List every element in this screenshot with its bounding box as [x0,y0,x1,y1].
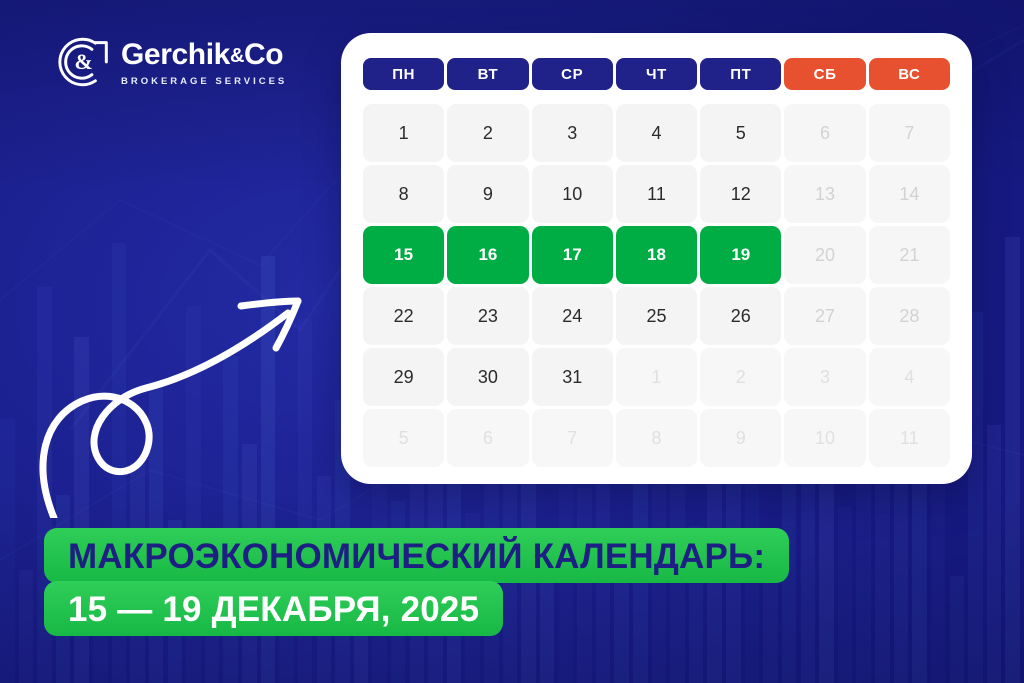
calendar-day-cell[interactable]: 13 [784,165,865,223]
calendar-day-cell[interactable]: 7 [532,409,613,467]
calendar-day-cell[interactable]: 8 [363,165,444,223]
calendar-weekday-header-3: ЧТ [616,58,697,90]
calendar-day-cell[interactable]: 11 [869,409,950,467]
brand-name: Gerchik&Co [121,40,287,70]
brand-logo: & Gerchik&Co BROKERAGE SERVICES [56,34,287,90]
calendar-day-cell[interactable]: 6 [447,409,528,467]
calendar-day-cell[interactable]: 10 [532,165,613,223]
calendar-day-cell[interactable]: 9 [447,165,528,223]
calendar-day-cell[interactable]: 22 [363,287,444,345]
calendar-weekday-header-0: ПН [363,58,444,90]
calendar-day-cell[interactable]: 23 [447,287,528,345]
calendar-day-cell[interactable]: 24 [532,287,613,345]
calendar-day-cell[interactable]: 9 [700,409,781,467]
calendar-day-cell[interactable]: 8 [616,409,697,467]
calendar-weekday-header-5: СБ [784,58,865,90]
brand-name-part1: Gerchik [121,38,230,71]
svg-text:&: & [74,50,92,74]
calendar-day-cell[interactable]: 2 [447,104,528,162]
calendar-day-cell[interactable]: 25 [616,287,697,345]
curly-upward-arrow-doodle [36,268,346,518]
brand-name-part2: Co [244,38,283,71]
calendar-day-cell[interactable]: 28 [869,287,950,345]
calendar-day-cell[interactable]: 18 [616,226,697,284]
calendar-day-cell[interactable]: 4 [616,104,697,162]
calendar-grid: ПНВТСРЧТПТСБВС12345678910111213141516171… [363,58,950,467]
calendar-day-cell[interactable]: 19 [700,226,781,284]
calendar-day-cell[interactable]: 5 [363,409,444,467]
calendar-day-cell[interactable]: 14 [869,165,950,223]
calendar-day-cell[interactable]: 6 [784,104,865,162]
banner-line-2: 15 — 19 ДЕКАБРЯ, 2025 [44,581,503,636]
calendar-day-cell[interactable]: 3 [532,104,613,162]
calendar-day-cell[interactable]: 11 [616,165,697,223]
calendar-day-cell[interactable]: 21 [869,226,950,284]
brand-name-amp: & [230,45,244,67]
title-banner: МАКРОЭКОНОМИЧЕСКИЙ КАЛЕНДАРЬ: 15 — 19 ДЕ… [44,528,789,636]
calendar-day-cell[interactable]: 12 [700,165,781,223]
calendar-day-cell[interactable]: 3 [784,348,865,406]
calendar-weekday-header-2: СР [532,58,613,90]
cg-monogram-circle-icon: & [56,34,112,90]
calendar-day-cell[interactable]: 4 [869,348,950,406]
brand-text: Gerchik&Co BROKERAGE SERVICES [121,38,287,87]
calendar-day-cell[interactable]: 10 [784,409,865,467]
calendar-day-cell[interactable]: 17 [532,226,613,284]
calendar-weekday-header-4: ПТ [700,58,781,90]
calendar-day-cell[interactable]: 31 [532,348,613,406]
calendar-weekday-header-6: ВС [869,58,950,90]
calendar-day-cell[interactable]: 27 [784,287,865,345]
calendar-day-cell[interactable]: 29 [363,348,444,406]
calendar-header-spacer [363,93,950,101]
calendar-day-cell[interactable]: 30 [447,348,528,406]
calendar-day-cell[interactable]: 15 [363,226,444,284]
calendar-day-cell[interactable]: 16 [447,226,528,284]
calendar-day-cell[interactable]: 1 [363,104,444,162]
calendar-day-cell[interactable]: 2 [700,348,781,406]
calendar-day-cell[interactable]: 26 [700,287,781,345]
brand-subtitle: BROKERAGE SERVICES [121,76,287,87]
calendar-day-cell[interactable]: 5 [700,104,781,162]
calendar-day-cell[interactable]: 20 [784,226,865,284]
calendar-day-cell[interactable]: 7 [869,104,950,162]
banner-line-1: МАКРОЭКОНОМИЧЕСКИЙ КАЛЕНДАРЬ: [44,528,789,583]
calendar-card: ПНВТСРЧТПТСБВС12345678910111213141516171… [341,33,972,484]
calendar-weekday-header-1: ВТ [447,58,528,90]
calendar-day-cell[interactable]: 1 [616,348,697,406]
